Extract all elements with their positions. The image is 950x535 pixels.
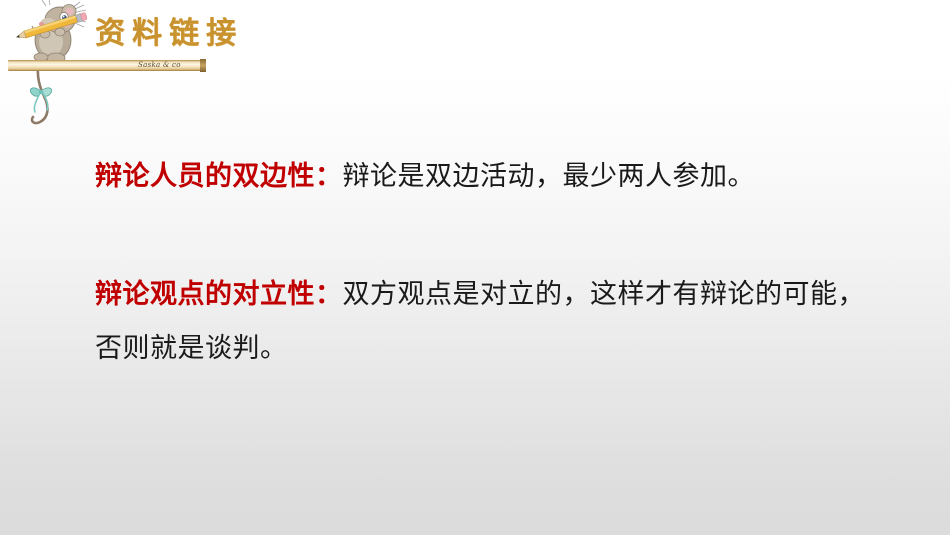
- paragraph-2: 辩论观点的对立性：双方观点是对立的，这样才有辩论的可能，否则就是谈判。: [95, 268, 885, 376]
- paragraph-1: 辩论人员的双边性：辩论是双边活动，最少两人参加。: [95, 150, 885, 204]
- bar-signature-text: Saska & co: [138, 60, 196, 70]
- slide-body: 辩论人员的双边性：辩论是双边活动，最少两人参加。 辩论观点的对立性：双方观点是对…: [95, 150, 885, 376]
- slide-canvas: 资料链接 Saska & co 辩论人员的双边性：辩论是双边活动，最少两人参加。…: [0, 0, 950, 535]
- slide-header: 资料链接 Saska & co: [0, 0, 330, 135]
- paragraph-1-rest: 辩论是双边活动，最少两人参加。: [343, 161, 756, 192]
- title-bar-end-cap: [200, 59, 206, 72]
- paragraph-2-lead: 辩论观点的对立性：: [95, 279, 343, 310]
- paragraph-1-lead: 辩论人员的双边性：: [95, 161, 343, 192]
- page-title: 资料链接: [95, 19, 243, 49]
